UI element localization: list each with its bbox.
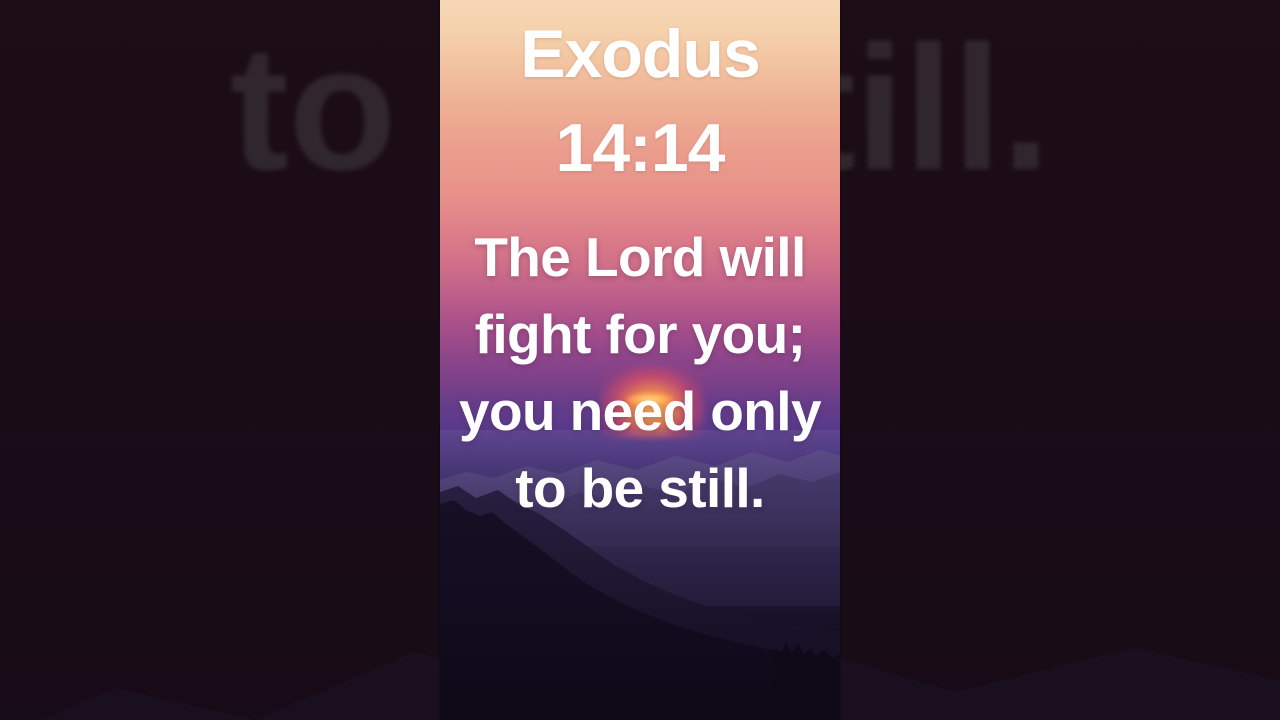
verse-text: The Lord will fight for you; you need on…: [440, 219, 840, 527]
video-frame: Exodus 14:14 The Lord will fight for you…: [0, 0, 1280, 720]
verse-line-3: you need only: [446, 373, 834, 450]
verse-line-1: The Lord will: [446, 219, 834, 296]
verse-reference: Exodus 14:14: [440, 8, 840, 196]
verse-card-content: Exodus 14:14 The Lord will fight for you…: [440, 0, 840, 720]
reference-verse-number: 14:14: [440, 102, 840, 196]
verse-line-2: fight for you;: [446, 296, 834, 373]
panel-seam-left: [439, 0, 440, 720]
reference-book: Exodus: [440, 8, 840, 102]
center-video-panel: Exodus 14:14 The Lord will fight for you…: [440, 0, 840, 720]
verse-line-4: to be still.: [446, 450, 834, 527]
panel-seam-right: [840, 0, 841, 720]
